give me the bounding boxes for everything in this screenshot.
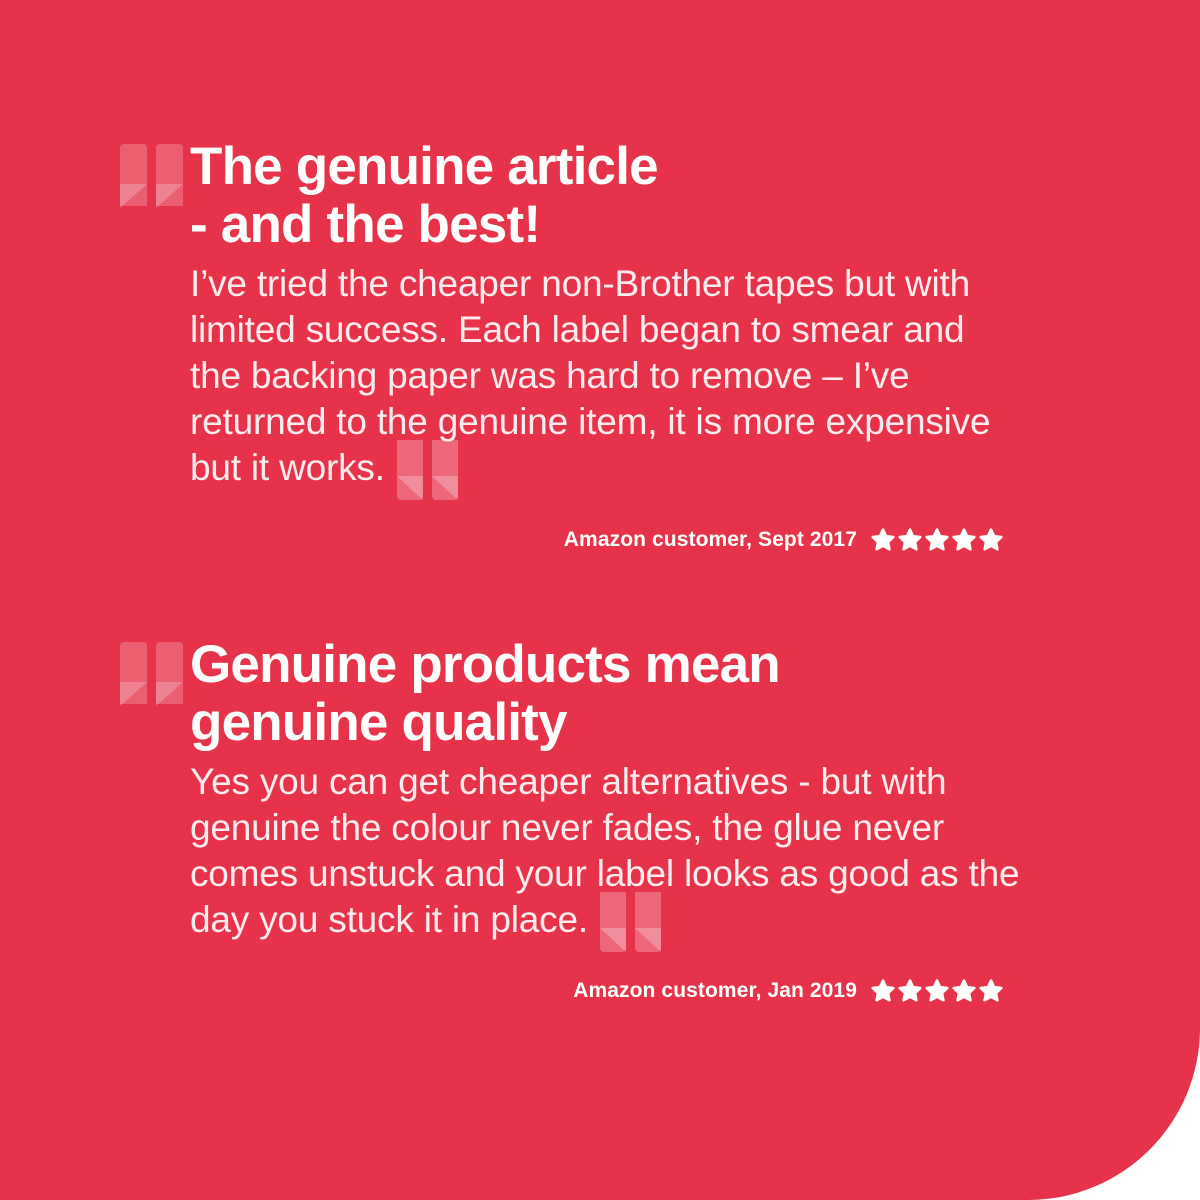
testimonial-card: The genuine article - and the best! I’ve… — [0, 0, 1200, 1200]
testimonial-headline: Genuine products mean genuine quality — [190, 636, 1090, 752]
attribution-name: Amazon customer, Jan 2019 — [573, 979, 857, 1003]
testimonial-body-text: I’ve tried the cheaper non-Brother tapes… — [190, 263, 990, 488]
star-icon — [871, 979, 895, 1003]
open-quote-icon — [118, 144, 192, 220]
star-icon — [898, 528, 922, 552]
testimonial-headline: The genuine article - and the best! — [190, 138, 1090, 254]
attribution-name: Amazon customer, Sept 2017 — [564, 528, 857, 552]
star-icon — [898, 979, 922, 1003]
star-rating — [871, 979, 1003, 1003]
star-icon — [871, 528, 895, 552]
star-icon — [979, 979, 1003, 1003]
star-rating — [871, 528, 1003, 552]
star-icon — [979, 528, 1003, 552]
testimonial-body: Yes you can get cheaper alternatives - b… — [190, 759, 1020, 946]
star-icon — [952, 979, 976, 1003]
testimonial-attribution: Amazon customer, Sept 2017 — [564, 528, 1003, 552]
testimonial-attribution: Amazon customer, Jan 2019 — [573, 979, 1003, 1003]
open-quote-icon — [118, 642, 192, 718]
testimonial-body: I’ve tried the cheaper non-Brother tapes… — [190, 261, 1020, 494]
star-icon — [952, 528, 976, 552]
star-icon — [925, 528, 949, 552]
star-icon — [925, 979, 949, 1003]
close-quote-icon — [598, 906, 670, 946]
close-quote-icon — [395, 454, 467, 494]
